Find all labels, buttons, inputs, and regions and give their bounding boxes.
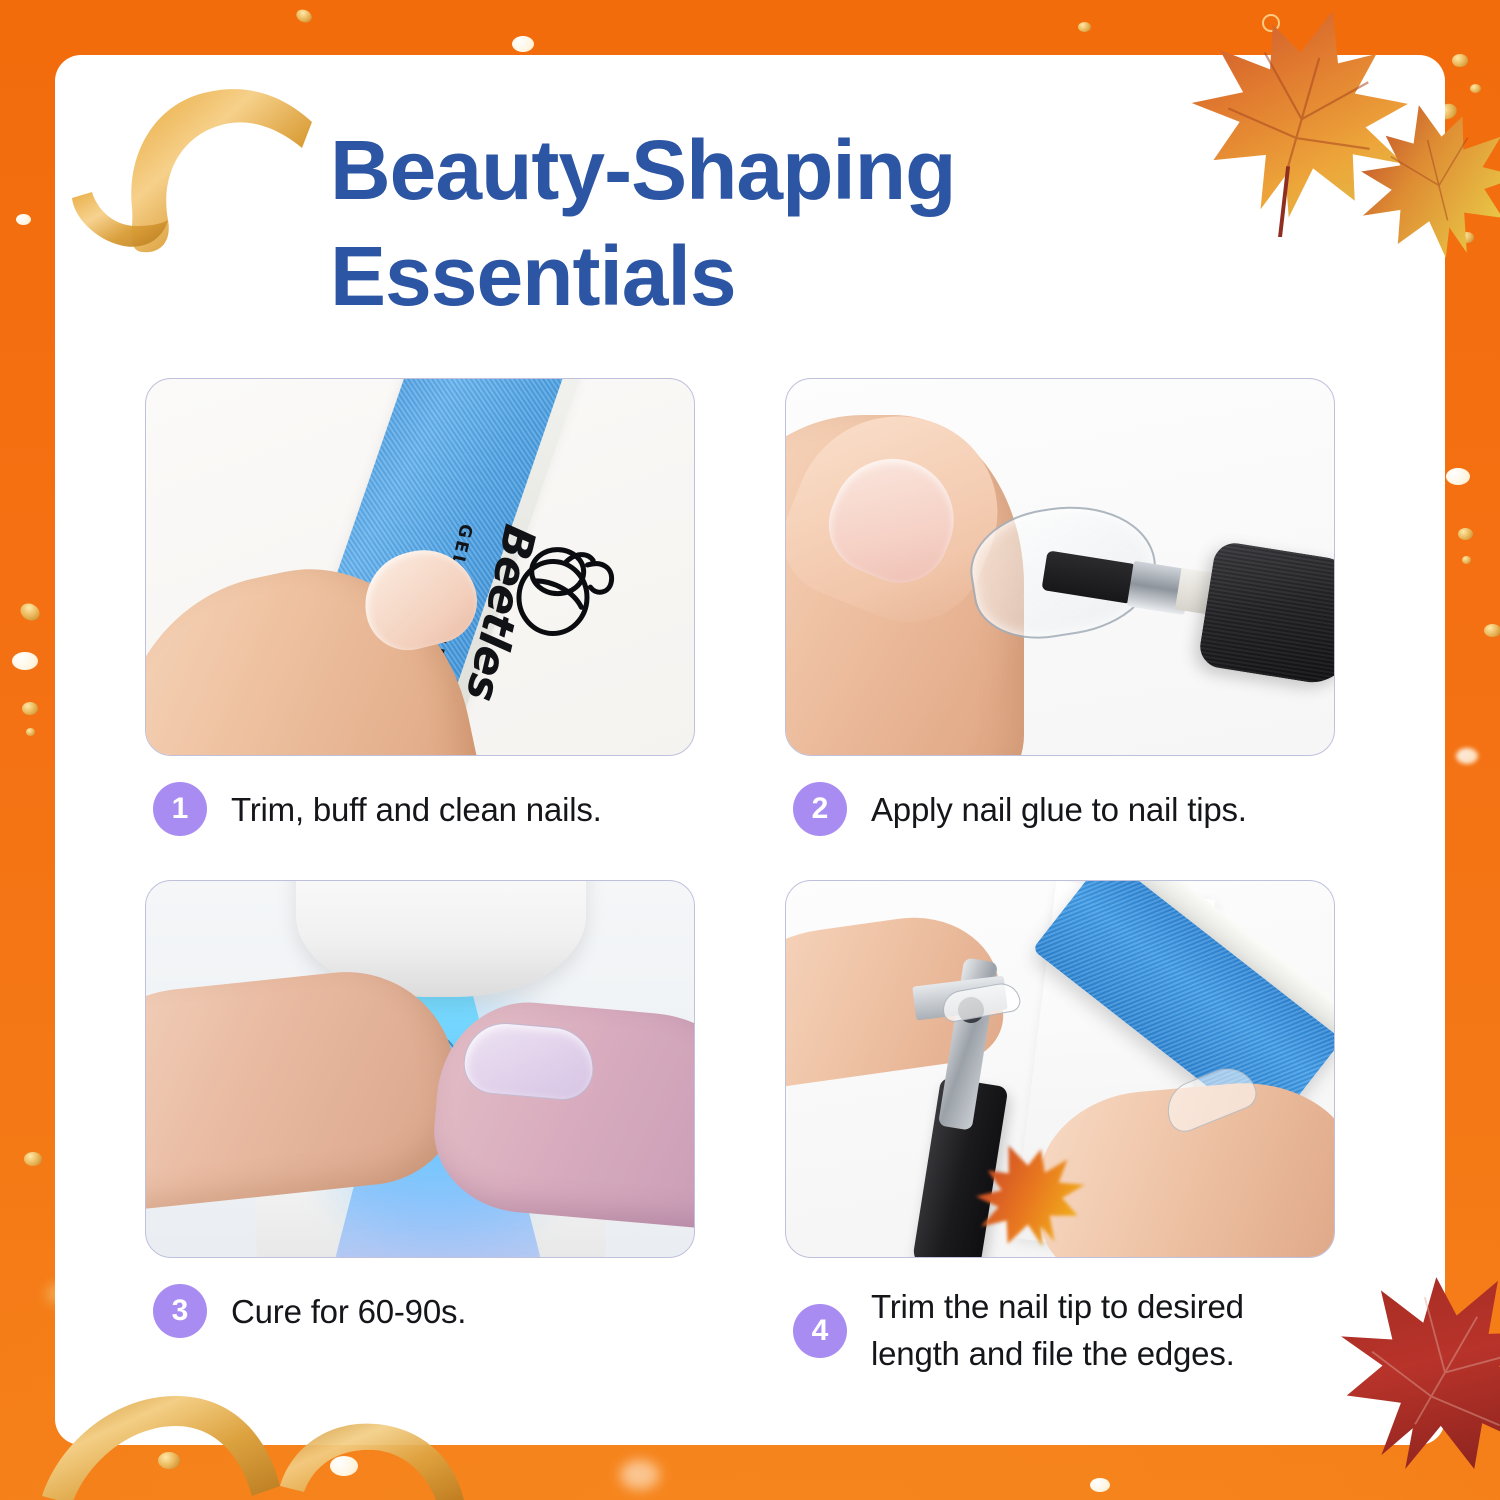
poster-background: Beauty-Shaping Essentials Beetles GEL PO… xyxy=(0,0,1500,1500)
step-2: 2 Apply nail glue to nail tips. xyxy=(785,378,1335,836)
step-3-caption: 3 Cure for 60-90s. xyxy=(145,1284,695,1338)
step-1-caption-text: Trim, buff and clean nails. xyxy=(231,782,602,834)
step-3: Nails In. 3 Cure for 60-90s. xyxy=(145,880,695,1378)
step-4: 4 Trim the nail tip to desired length an… xyxy=(785,880,1335,1378)
step-2-caption-text: Apply nail glue to nail tips. xyxy=(871,782,1247,834)
step-1: Beetles GEL POLISH xyxy=(145,378,695,836)
steps-grid: Beetles GEL POLISH xyxy=(145,378,1335,1378)
page-title-line-2: Essentials xyxy=(330,224,1230,330)
step-4-photo xyxy=(785,880,1335,1258)
step-2-caption: 2 Apply nail glue to nail tips. xyxy=(785,782,1335,836)
step-3-caption-text: Cure for 60-90s. xyxy=(231,1284,466,1336)
step-1-number-badge: 1 xyxy=(153,782,207,836)
maple-leaf-overlay-icon xyxy=(954,1131,1104,1258)
step-4-caption-text: Trim the nail tip to desired length and … xyxy=(871,1284,1244,1378)
step-1-photo: Beetles GEL POLISH xyxy=(145,378,695,756)
step-1-caption: 1 Trim, buff and clean nails. xyxy=(145,782,695,836)
page-title-line-1: Beauty-Shaping xyxy=(330,118,1230,224)
step-3-number-badge: 3 xyxy=(153,1284,207,1338)
step-4-number-badge: 4 xyxy=(793,1304,847,1358)
step-4-caption: 4 Trim the nail tip to desired length an… xyxy=(785,1284,1335,1378)
step-4-caption-line-1: Trim the nail tip to desired xyxy=(871,1288,1244,1325)
glue-bottle-cap xyxy=(1197,540,1335,688)
step-4-caption-line-2: length and file the edges. xyxy=(871,1335,1235,1372)
step-3-photo: Nails In. xyxy=(145,880,695,1258)
step-2-photo xyxy=(785,378,1335,756)
step-2-number-badge: 2 xyxy=(793,782,847,836)
page-title: Beauty-Shaping Essentials xyxy=(330,118,1230,330)
